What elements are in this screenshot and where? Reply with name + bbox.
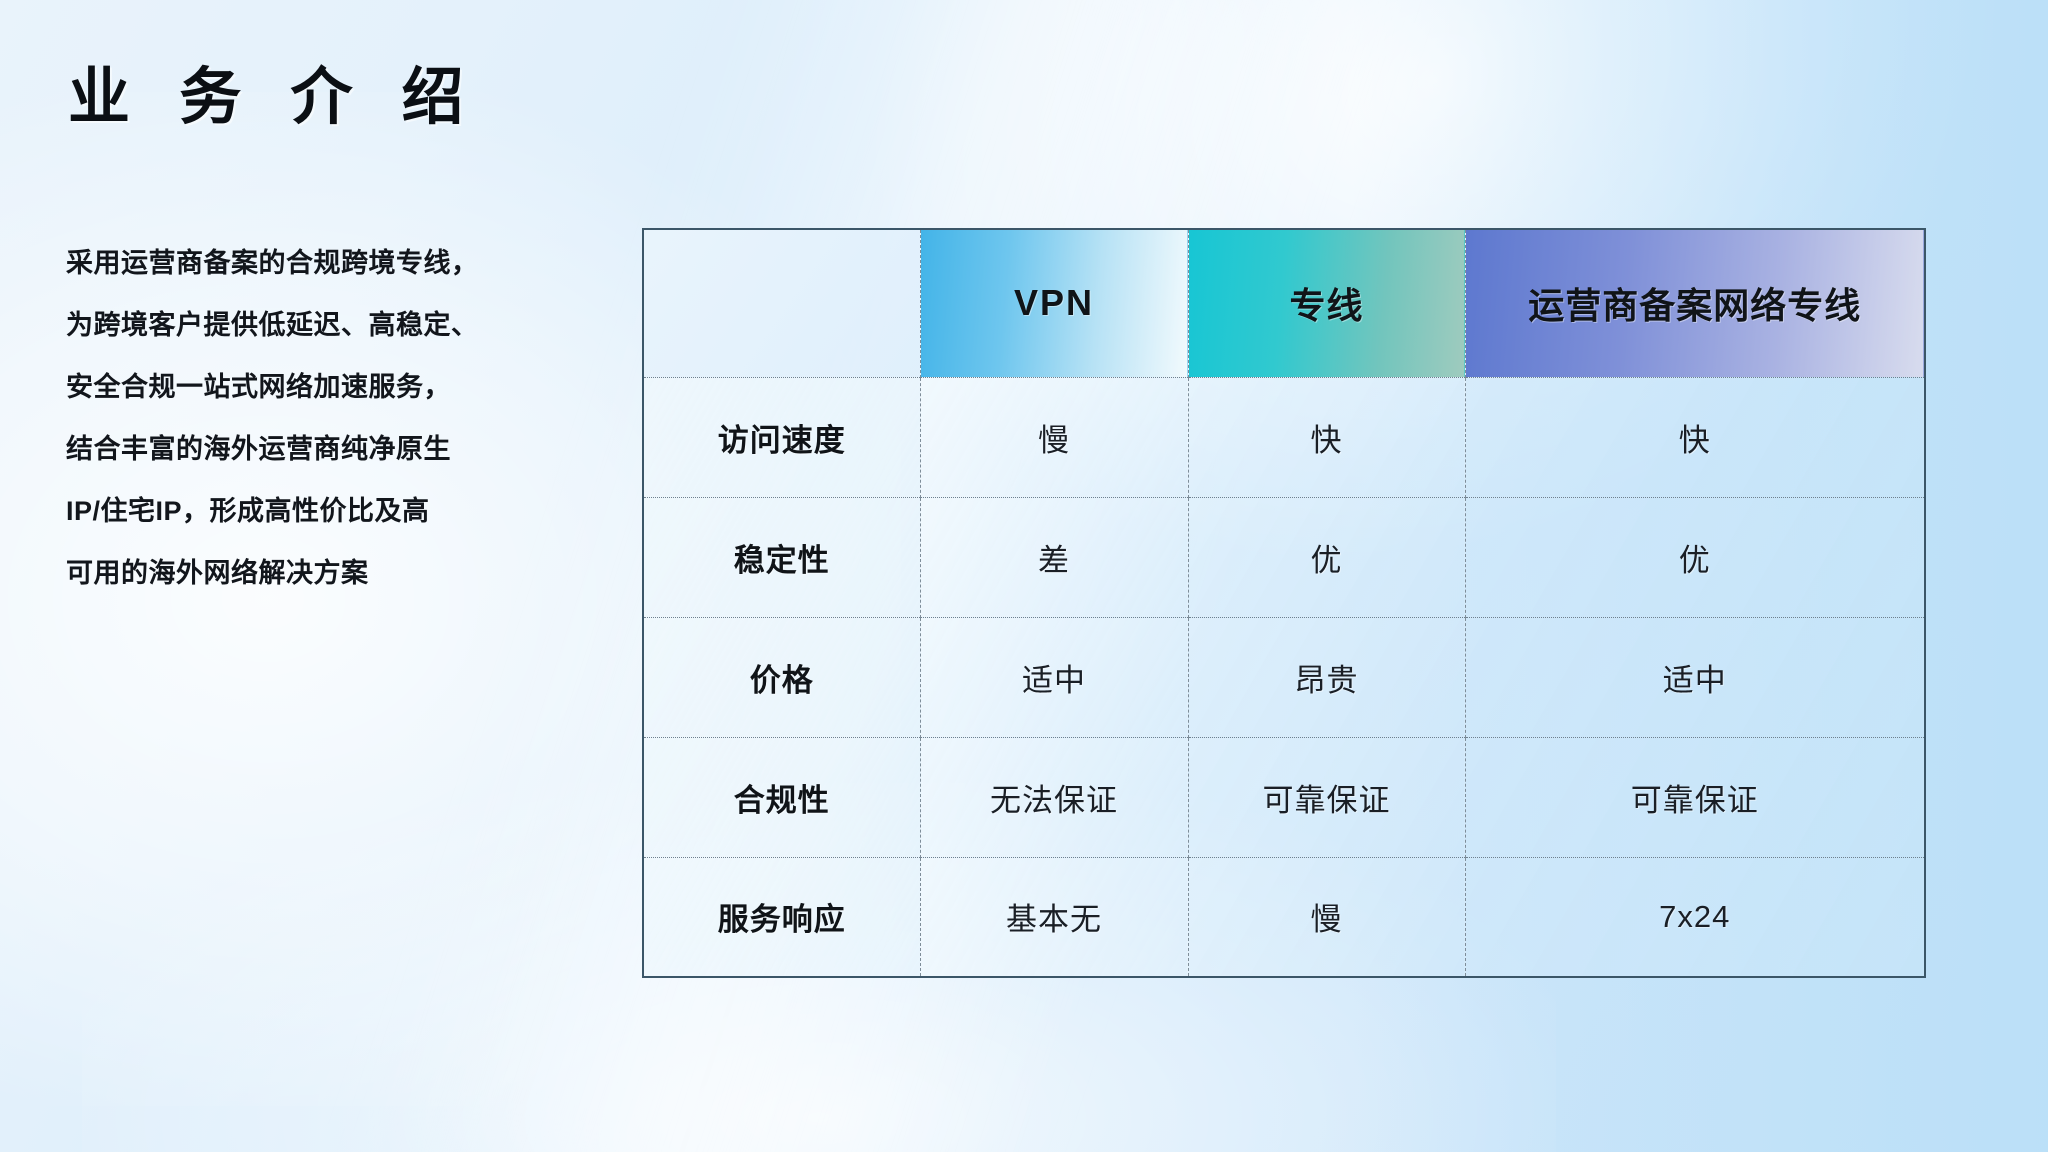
cell-value: 慢 — [921, 415, 1188, 460]
cell-carrier-line: 7x24 — [1465, 857, 1925, 977]
table-row: 访问速度 慢 快 快 — [643, 377, 1925, 497]
cell-value: 优 — [1189, 535, 1465, 580]
intro-line: 安全合规一站式网络加速服务， — [66, 356, 626, 418]
row-label: 服务响应 — [644, 894, 920, 939]
row-label-cell: 访问速度 — [643, 377, 920, 497]
cell-value: 可靠保证 — [1466, 775, 1925, 820]
table-header-dedicated-line: 专线 — [1188, 229, 1465, 377]
cell-dedicated-line: 慢 — [1188, 857, 1465, 977]
cell-value: 差 — [921, 535, 1188, 580]
intro-line: 采用运营商备案的合规跨境专线， — [66, 232, 626, 294]
intro-line: 结合丰富的海外运营商纯净原生 — [66, 418, 626, 480]
cell-dedicated-line: 优 — [1188, 497, 1465, 617]
cell-value: 适中 — [921, 655, 1188, 700]
cell-carrier-line: 适中 — [1465, 617, 1925, 737]
table-header-carrier-line: 运营商备案网络专线 — [1465, 229, 1925, 377]
cell-value: 慢 — [1189, 894, 1465, 939]
intro-paragraph: 采用运营商备案的合规跨境专线， 为跨境客户提供低延迟、高稳定、 安全合规一站式网… — [66, 232, 626, 604]
cell-value: 快 — [1466, 415, 1925, 460]
table-header-row: VPN 专线 运营商备案网络专线 — [643, 229, 1925, 377]
cell-value: 快 — [1189, 415, 1465, 460]
cell-value: 基本无 — [921, 894, 1188, 939]
cell-dedicated-line: 可靠保证 — [1188, 737, 1465, 857]
cell-carrier-line: 快 — [1465, 377, 1925, 497]
cell-value: 无法保证 — [921, 775, 1188, 820]
page-title: 业 务 介 绍 — [68, 62, 480, 133]
table-header-dedicated-line-label: 专线 — [1189, 277, 1465, 329]
cell-vpn: 慢 — [920, 377, 1188, 497]
cell-carrier-line: 可靠保证 — [1465, 737, 1925, 857]
table-header-vpn-label: VPN — [921, 282, 1188, 324]
intro-line: 可用的海外网络解决方案 — [66, 542, 626, 604]
table-row: 服务响应 基本无 慢 7x24 — [643, 857, 1925, 977]
table-row: 合规性 无法保证 可靠保证 可靠保证 — [643, 737, 1925, 857]
cell-vpn: 无法保证 — [920, 737, 1188, 857]
table-header-vpn: VPN — [920, 229, 1188, 377]
table-row: 价格 适中 昂贵 适中 — [643, 617, 1925, 737]
intro-line: 为跨境客户提供低延迟、高稳定、 — [66, 294, 626, 356]
cell-vpn: 差 — [920, 497, 1188, 617]
row-label-cell: 价格 — [643, 617, 920, 737]
comparison-table: VPN 专线 运营商备案网络专线 访问速度 慢 快 — [642, 228, 1926, 978]
row-label: 稳定性 — [644, 535, 920, 580]
cell-value: 昂贵 — [1189, 655, 1465, 700]
intro-line: IP/住宅IP，形成高性价比及高 — [66, 480, 626, 542]
table-header-carrier-line-label: 运营商备案网络专线 — [1466, 277, 1925, 329]
cell-vpn: 基本无 — [920, 857, 1188, 977]
row-label-cell: 服务响应 — [643, 857, 920, 977]
cell-carrier-line: 优 — [1465, 497, 1925, 617]
cell-vpn: 适中 — [920, 617, 1188, 737]
cell-value: 优 — [1466, 535, 1925, 580]
cell-dedicated-line: 快 — [1188, 377, 1465, 497]
row-label: 价格 — [644, 655, 920, 700]
row-label-cell: 稳定性 — [643, 497, 920, 617]
cell-value: 可靠保证 — [1189, 775, 1465, 820]
row-label: 合规性 — [644, 775, 920, 820]
cell-value: 适中 — [1466, 655, 1925, 700]
table-row: 稳定性 差 优 优 — [643, 497, 1925, 617]
table-header-corner — [643, 229, 920, 377]
slide-content: 业 务 介 绍 采用运营商备案的合规跨境专线， 为跨境客户提供低延迟、高稳定、 … — [0, 0, 2048, 1152]
cell-value: 7x24 — [1466, 899, 1925, 935]
row-label: 访问速度 — [644, 415, 920, 460]
row-label-cell: 合规性 — [643, 737, 920, 857]
cell-dedicated-line: 昂贵 — [1188, 617, 1465, 737]
